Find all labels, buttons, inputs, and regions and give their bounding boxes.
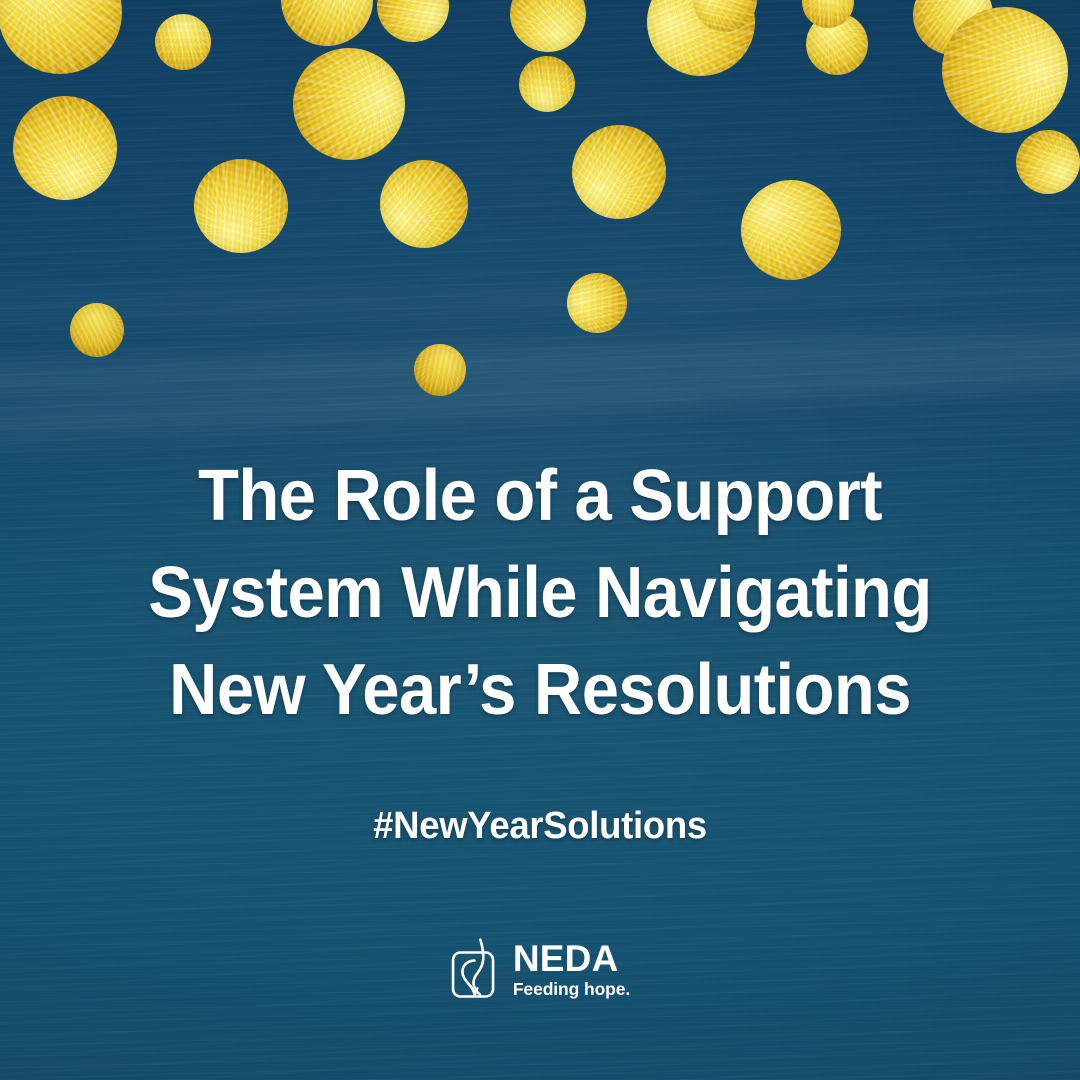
poster-canvas: The Role of a Support System While Navig… <box>0 0 1080 1080</box>
neda-logo-text: NEDA Feeding hope. <box>513 940 630 999</box>
neda-tagline: Feeding hope. <box>513 981 630 999</box>
headline-line-1: The Role of a Support <box>121 448 958 545</box>
poster-content: The Role of a Support System While Navig… <box>0 0 1080 1080</box>
hashtag-label: #NewYearSolutions <box>22 805 1059 848</box>
neda-wordmark: NEDA <box>513 940 630 977</box>
headline-line-2: System While Navigating <box>121 545 958 642</box>
page-title: The Role of a Support System While Navig… <box>38 448 1042 739</box>
neda-logo: NEDA Feeding hope. <box>450 938 630 1000</box>
headline-line-3: New Year’s Resolutions <box>121 642 958 739</box>
neda-flame-mark <box>450 938 502 1000</box>
